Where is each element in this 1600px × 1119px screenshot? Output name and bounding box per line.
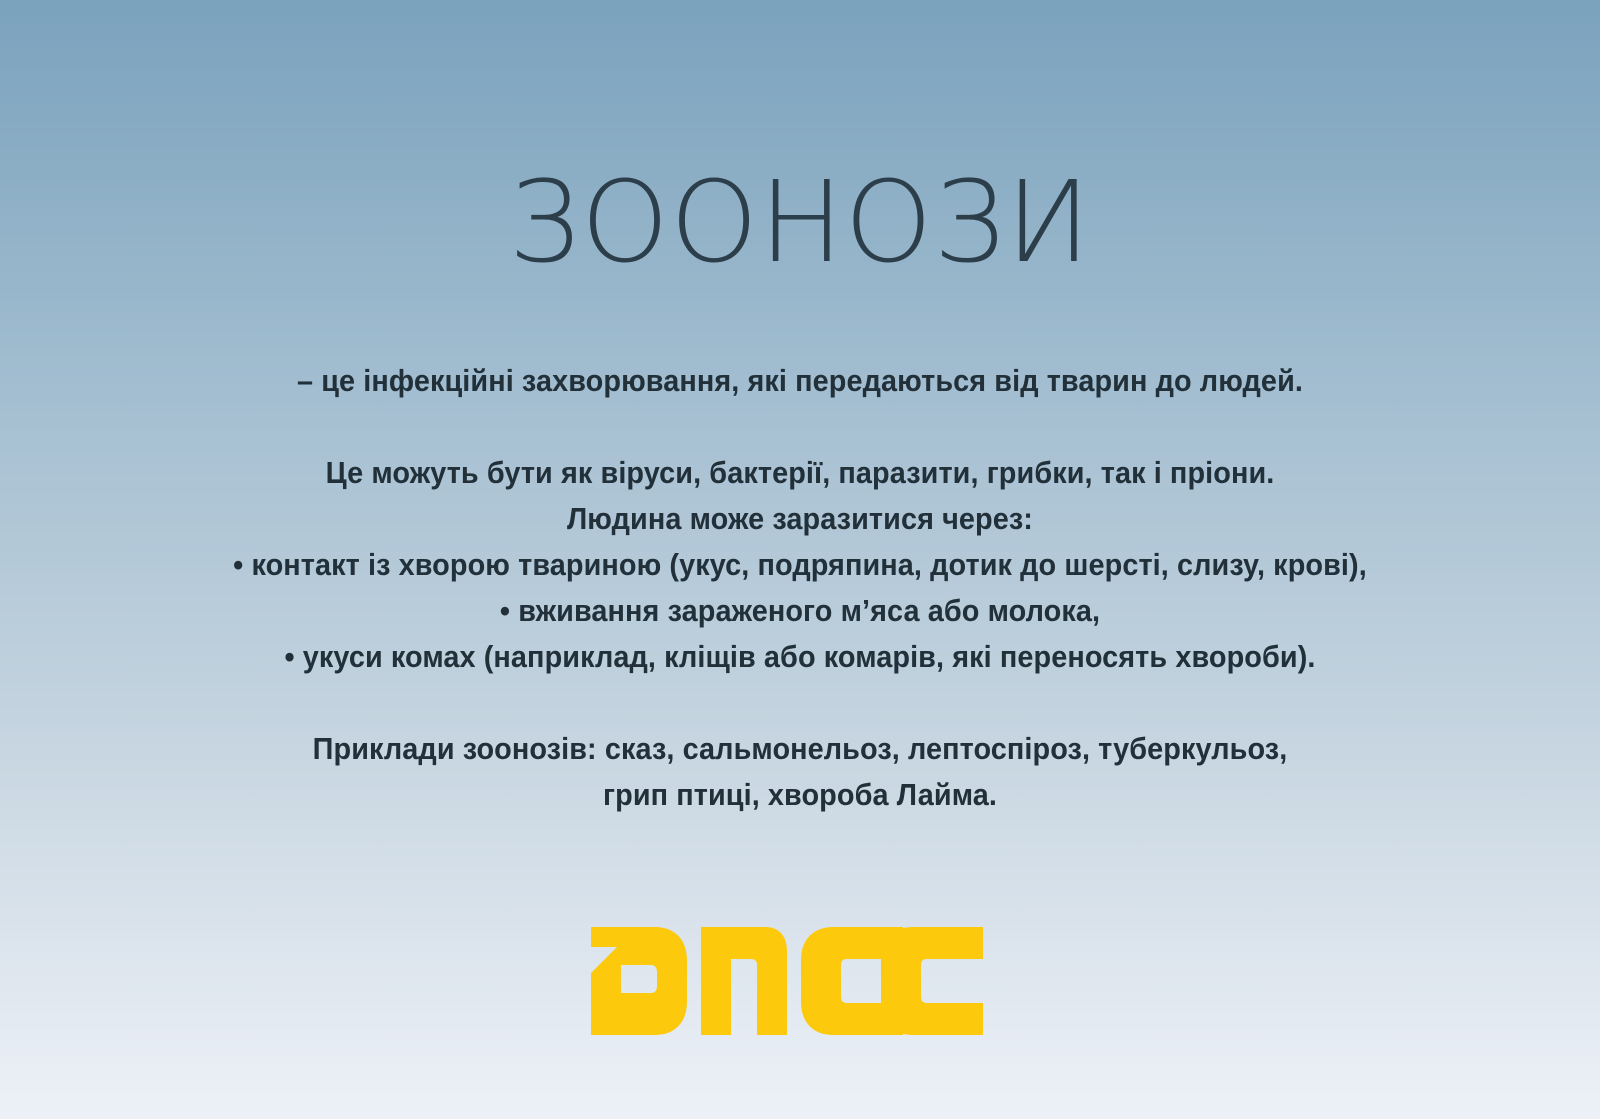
- examples-line-1: Приклади зоонозів: сказ, сальмонельоз, л…: [56, 726, 1544, 772]
- body-content: – це інфекційні захворювання, які переда…: [0, 358, 1600, 818]
- definition-line: – це інфекційні захворювання, які переда…: [56, 358, 1544, 404]
- dpss-logo: [583, 927, 983, 1035]
- logo-letter-s2: [881, 927, 983, 1035]
- types-line: Це можуть бути як віруси, бактерії, пара…: [56, 450, 1544, 496]
- examples-paragraph: Приклади зоонозів: сказ, сальмонельоз, л…: [0, 726, 1600, 818]
- spacer: [0, 404, 1600, 450]
- bullet-item: • вживання зараженого м’яса або молока,: [56, 588, 1544, 634]
- page-title: ЗООНОЗИ: [0, 163, 1600, 284]
- transmission-paragraph: Це можуть бути як віруси, бактерії, пара…: [0, 450, 1600, 680]
- logo-letter-p: [701, 927, 787, 1035]
- transmission-intro-line: Людина може заразитися через:: [56, 496, 1544, 542]
- examples-line-2: грип птиці, хвороба Лайма.: [56, 772, 1544, 818]
- dpss-logo-icon: [583, 927, 983, 1035]
- bullet-item: • укуси комах (наприклад, кліщів або ком…: [56, 634, 1544, 680]
- bullet-item: • контакт із хворою твариною (укус, подр…: [56, 542, 1544, 588]
- logo-letter-d: [591, 927, 687, 1035]
- slide-root: ЗООНОЗИ – це інфекційні захворювання, як…: [0, 0, 1600, 1119]
- spacer: [0, 680, 1600, 726]
- definition-paragraph: – це інфекційні захворювання, які переда…: [0, 358, 1600, 404]
